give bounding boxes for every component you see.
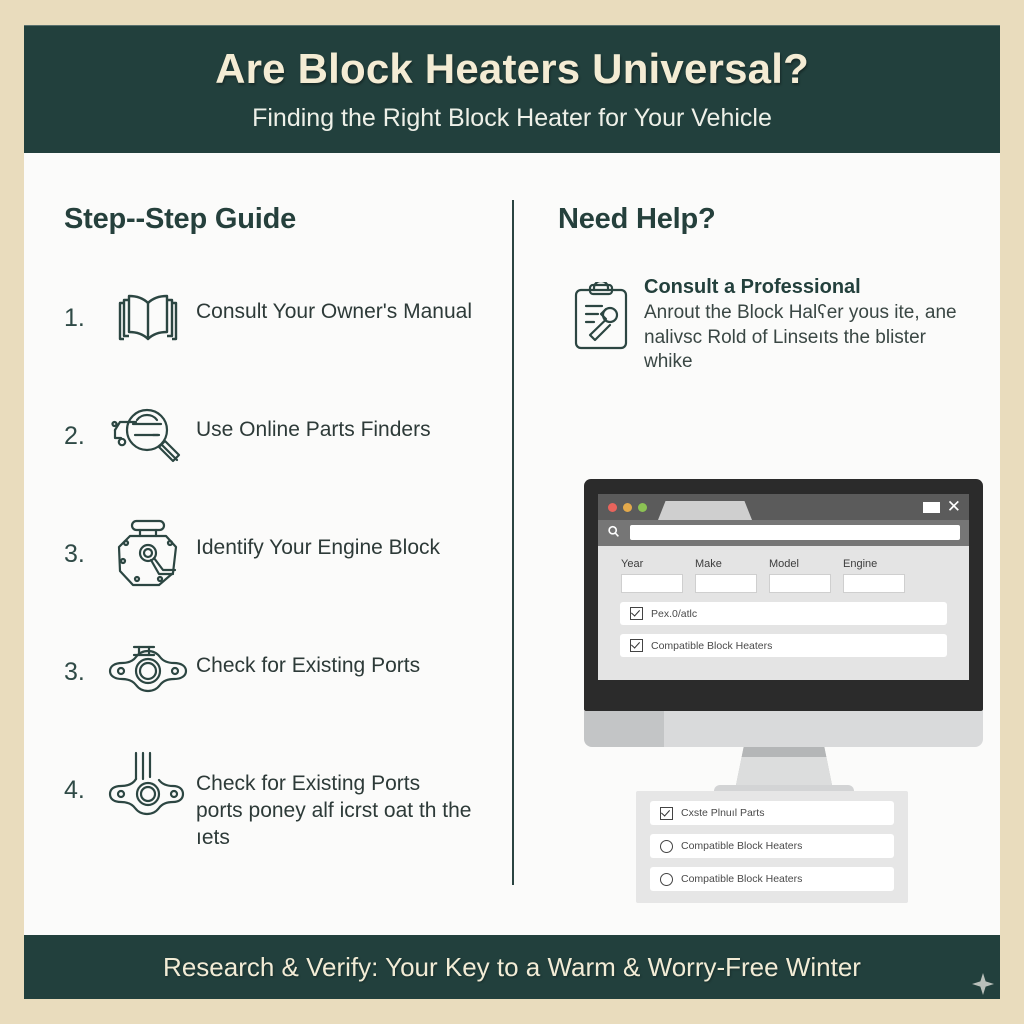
step-sublabel-text: ports poney alf icrst oat th the ıets — [196, 797, 494, 851]
result-row[interactable]: Pex.0/atlc — [620, 602, 947, 625]
monitor-bezel: ✕ — [584, 479, 983, 711]
step-number: 3. — [64, 510, 100, 569]
model-input[interactable] — [769, 574, 831, 593]
browser-titlebar: ✕ — [598, 494, 969, 520]
page-subtitle: Finding the Right Block Heater for Your … — [24, 104, 1000, 133]
clipboard-wrench-icon — [558, 274, 644, 360]
footer-text: Research & Verify: Your Key to a Warm & … — [24, 952, 1000, 983]
make-field-wrap: Make — [695, 558, 757, 593]
list-item-label: Cxste Plnuıl Parts — [681, 807, 764, 819]
year-label: Year — [621, 558, 683, 570]
list-item[interactable]: Cxste Plnuıl Parts — [650, 801, 894, 825]
step-item: 1. Consult Your Owner's Manual — [64, 274, 494, 360]
step-item: 4. Check for Existing Ports ports poney … — [64, 746, 494, 851]
traffic-light-amber-icon[interactable] — [623, 503, 632, 512]
engine-block-icon — [100, 510, 196, 596]
monitor-mockup: ✕ — [584, 479, 984, 797]
browser-tab[interactable] — [658, 501, 752, 520]
left-column-heading: Step--Step Guide — [64, 203, 494, 236]
step-label: Use Online Parts Finders — [196, 392, 494, 443]
right-column-heading: Need Help? — [558, 203, 978, 236]
maximize-icon[interactable] — [923, 502, 940, 513]
step-item: 3. — [64, 510, 494, 596]
traffic-light-red-icon[interactable] — [608, 503, 617, 512]
list-item-label: Compatible Block Heaters — [681, 873, 802, 885]
model-label: Model — [769, 558, 831, 570]
help-title: Consult a Professional — [644, 276, 978, 299]
make-input[interactable] — [695, 574, 757, 593]
traffic-light-green-icon[interactable] — [638, 503, 647, 512]
checkbox-icon[interactable] — [660, 807, 673, 820]
model-field-wrap: Model — [769, 558, 831, 593]
step-number: 1. — [64, 274, 100, 333]
step-label-text: Use Online Parts Finders — [196, 418, 431, 441]
make-label: Make — [695, 558, 757, 570]
step-number: 2. — [64, 392, 100, 451]
port-flange-pipes-icon — [100, 746, 196, 832]
step-item: 3. Check for Existing Ports — [64, 628, 494, 714]
step-item: 2. — [64, 392, 494, 478]
step-label: Consult Your Owner's Manual — [196, 274, 494, 325]
checkbox-icon[interactable] — [630, 639, 643, 652]
open-book-icon — [100, 274, 196, 360]
result-label: Compatible Block Heaters — [651, 640, 772, 652]
step-number: 4. — [64, 746, 100, 805]
result-row[interactable]: Compatible Block Heaters — [620, 634, 947, 657]
monitor-stand-neck — [736, 747, 832, 785]
step-label-text: Identify Your Engine Block — [196, 536, 440, 559]
browser-searchbar — [598, 520, 969, 546]
column-divider — [512, 200, 514, 885]
step-label: Identify Your Engine Block — [196, 510, 494, 561]
checkbox-icon[interactable] — [630, 607, 643, 620]
monitor-chin — [584, 711, 983, 747]
port-flange-icon — [100, 628, 196, 714]
parts-finder-form: Year Make Model — [598, 546, 969, 680]
list-item[interactable]: Compatible Block Heaters — [650, 834, 894, 858]
right-column: Need Help? Consult a Professional — [558, 203, 978, 375]
year-input[interactable] — [621, 574, 683, 593]
page-title: Are Block Heaters Universal? — [24, 45, 1000, 93]
results-panel: Cxste Plnuıl Parts Compatible Block Heat… — [636, 791, 908, 903]
vehicle-field-group: Year Make Model — [621, 558, 951, 593]
infographic-poster: Are Block Heaters Universal? Finding the… — [0, 0, 1024, 1024]
car-magnifier-icon — [100, 392, 196, 478]
engine-label: Engine — [843, 558, 905, 570]
step-label-text: Check for Existing Ports — [196, 654, 420, 677]
content-panel: Step--Step Guide 1. Consult Your Owner's… — [24, 153, 1000, 935]
help-text: Anrout the Block Halʕer yous ite, ane na… — [644, 301, 978, 375]
result-label: Pex.0/atlc — [651, 608, 697, 620]
step-label: Check for Existing Ports ports poney alf… — [196, 746, 494, 851]
step-label: Check for Existing Ports — [196, 628, 494, 679]
footer-banner: Research & Verify: Your Key to a Warm & … — [24, 935, 1000, 999]
step-label-text: Check for Existing Ports — [196, 772, 420, 795]
help-card: Consult a Professional Anrout the Block … — [558, 274, 978, 375]
list-item[interactable]: Compatible Block Heaters — [650, 867, 894, 891]
step-number: 3. — [64, 628, 100, 687]
engine-input[interactable] — [843, 574, 905, 593]
help-body: Consult a Professional Anrout the Block … — [644, 274, 978, 375]
header-banner: Are Block Heaters Universal? Finding the… — [24, 25, 1000, 153]
browser-window: ✕ — [598, 494, 969, 680]
list-item-label: Compatible Block Heaters — [681, 840, 802, 852]
engine-field-wrap: Engine — [843, 558, 905, 593]
search-icon — [607, 525, 620, 543]
search-input[interactable] — [630, 525, 960, 540]
radio-icon[interactable] — [660, 840, 673, 853]
radio-icon[interactable] — [660, 873, 673, 886]
step-label-text: Consult Your Owner's Manual — [196, 300, 472, 323]
year-field-wrap: Year — [621, 558, 683, 593]
left-column: Step--Step Guide 1. Consult Your Owner's… — [64, 203, 494, 883]
close-icon[interactable]: ✕ — [947, 497, 961, 516]
